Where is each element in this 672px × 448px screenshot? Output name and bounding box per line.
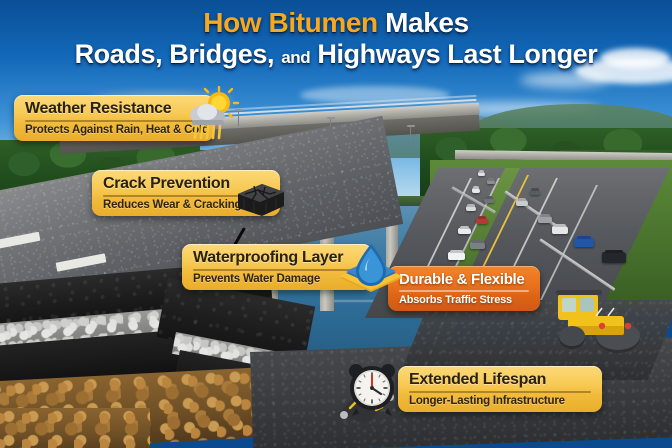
car (484, 198, 494, 203)
car (516, 200, 528, 206)
callout-durable-flexible[interactable]: Durable & Flexible Absorbs Traffic Stres… (388, 266, 540, 311)
callout-divider (399, 290, 529, 292)
title-line2-part-a: Roads, Bridges, (75, 39, 275, 69)
sun-cloud-rain-icon (182, 86, 240, 142)
car (552, 226, 568, 234)
callout-title: Waterproofing Layer (193, 249, 361, 267)
soil-rubble (0, 408, 150, 448)
infographic-canvas: How Bitumen Makes Roads, Bridges, and Hi… (0, 0, 672, 448)
callout-divider (193, 269, 361, 271)
title-line2-part-b: Highways Last Longer (317, 39, 597, 69)
title-gold-text: How Bitumen (203, 7, 377, 38)
callout-subtitle: Protects Against Rain, Heat & Cold (25, 124, 203, 136)
title-line2-and: and (281, 48, 310, 67)
alarm-clock-road-icon (336, 358, 412, 426)
callout-subtitle: Absorbs Traffic Stress (399, 294, 529, 306)
car (448, 252, 465, 260)
car (458, 228, 471, 234)
callout-subtitle: Longer-Lasting Infrastructure (409, 395, 591, 407)
callout-divider (25, 120, 203, 122)
car (487, 180, 495, 184)
cracked-asphalt-block-icon (232, 166, 288, 218)
title-line-1: How Bitumen Makes (0, 8, 672, 37)
cloud (520, 72, 610, 88)
callout-subtitle: Prevents Water Damage (193, 273, 361, 285)
title-white-text: Makes (385, 7, 469, 38)
bridge-lamp (410, 126, 411, 140)
car (478, 172, 485, 176)
callout-extended-lifespan[interactable]: Extended Lifespan Longer-Lasting Infrast… (398, 366, 602, 412)
car (470, 242, 485, 249)
car (574, 238, 594, 247)
callout-title: Weather Resistance (25, 100, 203, 118)
page-title: How Bitumen Makes Roads, Bridges, and Hi… (0, 8, 672, 69)
car (476, 218, 488, 224)
car (530, 190, 540, 195)
car (466, 206, 476, 211)
water-droplet-membrane-icon (338, 240, 404, 300)
callout-title: Durable & Flexible (399, 271, 529, 288)
car (472, 188, 480, 193)
title-line-2: Roads, Bridges, and Highways Last Longer (0, 40, 672, 68)
car (602, 252, 626, 263)
callout-divider (409, 391, 591, 393)
road-roller-icon (536, 286, 654, 358)
callout-title: Extended Lifespan (409, 371, 591, 389)
car (538, 216, 552, 223)
